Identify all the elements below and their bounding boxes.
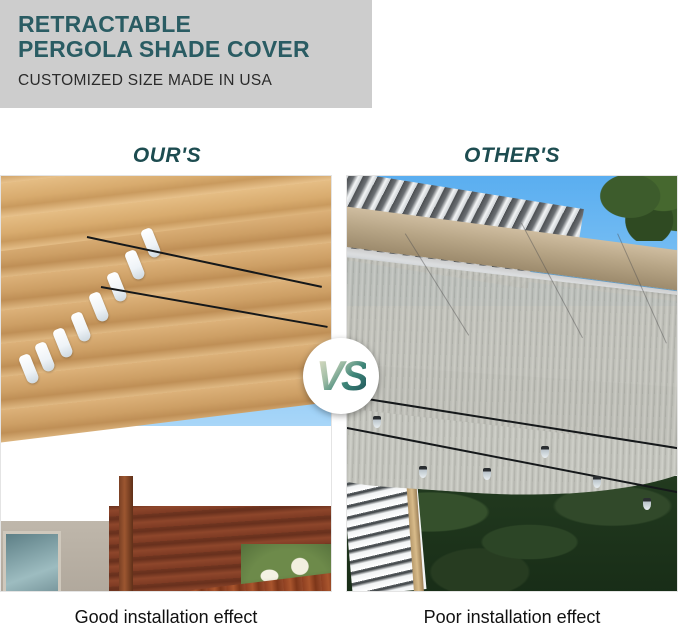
glass-door [3,531,61,591]
pergola-post [119,476,133,591]
photo-good-installation [0,175,332,592]
versus-label: VS [316,355,366,397]
column-heading-ours: OUR'S [17,144,317,168]
string-light-bulb [643,498,651,510]
versus-badge: VS [303,338,379,414]
product-subtitle: CUSTOMIZED SIZE MADE IN USA [18,72,372,90]
string-light-bulb [419,466,427,478]
product-title-line-1: RETRACTABLE [18,12,372,37]
tree-foliage [597,176,677,241]
photo-poor-installation [346,175,678,592]
string-light-bulb [593,476,601,488]
scene-poor-installation [347,176,677,591]
string-light-bulb [373,416,381,428]
product-title-line-2: PERGOLA SHADE COVER [18,37,372,62]
column-heading-others: OTHER'S [362,144,662,168]
caption-good-installation: Good installation effect [0,607,332,628]
string-light-bulb [541,446,549,458]
caption-poor-installation: Poor installation effect [346,607,678,628]
header-banner: RETRACTABLE PERGOLA SHADE COVER CUSTOMIZ… [0,0,372,108]
scene-good-installation [1,176,331,591]
string-light-bulb [483,468,491,480]
